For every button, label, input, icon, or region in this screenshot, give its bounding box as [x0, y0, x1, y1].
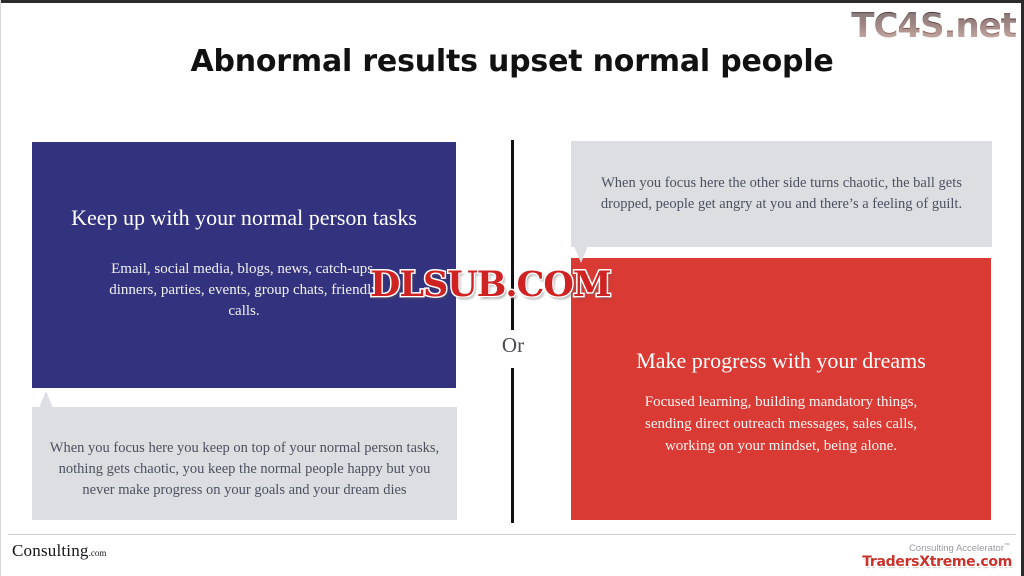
red-panel-heading: Make progress with your dreams — [571, 348, 991, 374]
callout-top-right-text: When you focus here the other side turns… — [582, 173, 981, 215]
divider-line-lower — [511, 368, 514, 523]
accelerator-label: Consulting Accelerator — [909, 543, 1004, 554]
callout-bottom-left-tail — [39, 391, 53, 408]
slide-canvas: Abnormal results upset normal people Kee… — [0, 0, 1024, 576]
red-panel-body: Focused learning, building mandatory thi… — [621, 391, 941, 457]
watermark-bottom-right: TradersXtreme.com — [862, 554, 1012, 570]
callout-bottom-left-text: When you focus here you keep on top of y… — [42, 438, 447, 501]
watermark-center: DLSUB.COM — [370, 264, 611, 305]
brand-logo-tld: .com — [89, 548, 107, 558]
page-title: Abnormal results upset normal people — [0, 44, 1024, 79]
accelerator-mark: Consulting Accelerator™ — [909, 543, 1010, 554]
panel-make-progress-dreams: Make progress with your dreams Focused l… — [571, 258, 991, 520]
slide-border-left — [0, 0, 1, 576]
slide-border-top — [0, 0, 1024, 3]
brand-logo: Consulting.com — [12, 541, 106, 561]
footer-divider — [8, 534, 1016, 535]
watermark-top-right: TC4S.net — [851, 6, 1016, 46]
divider-label-or: Or — [477, 333, 549, 358]
callout-top-right-tail — [574, 246, 588, 263]
callout-top-right: When you focus here the other side turns… — [571, 141, 992, 247]
brand-logo-name: Consulting — [12, 541, 89, 560]
blue-panel-heading: Keep up with your normal person tasks — [32, 205, 456, 231]
trademark-symbol: ™ — [1004, 543, 1010, 549]
blue-panel-body: Email, social media, blogs, news, catch-… — [104, 259, 384, 322]
callout-bottom-left: When you focus here you keep on top of y… — [32, 407, 457, 520]
